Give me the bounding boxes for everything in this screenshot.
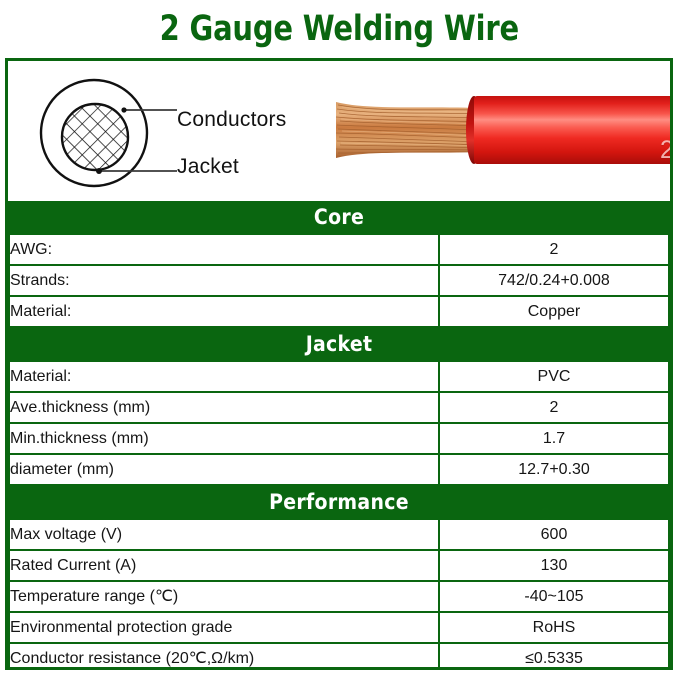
row-value: 742/0.24+0.008: [439, 265, 669, 296]
diagram-label-conductors: Conductors: [177, 108, 286, 132]
table-row: Min.thickness (mm) 1.7: [9, 423, 669, 454]
row-value: 2: [439, 392, 669, 423]
section-header-performance: Performance: [9, 485, 669, 519]
row-label: Temperature range (℃): [9, 581, 439, 612]
section-header-row: Core: [9, 201, 669, 234]
table-row: Rated Current (A) 130: [9, 550, 669, 581]
row-label: Min.thickness (mm): [9, 423, 439, 454]
illustration-band: Conductors Jacket: [8, 61, 670, 201]
row-label: Material:: [9, 296, 439, 327]
section-header-core: Core: [9, 201, 669, 234]
section-header-row: Performance: [9, 485, 669, 519]
copper-strands: [328, 88, 484, 172]
row-label: AWG:: [9, 234, 439, 265]
row-label: Environmental protection grade: [9, 612, 439, 643]
row-value: -40~105: [439, 581, 669, 612]
title-bar: 2 Gauge Welding Wire: [0, 0, 679, 58]
row-label: diameter (mm): [9, 454, 439, 485]
table-row: Environmental protection grade RoHS: [9, 612, 669, 643]
table-row: Material: Copper: [9, 296, 669, 327]
row-value: 1.7: [439, 423, 669, 454]
row-value: Copper: [439, 296, 669, 327]
wire-photo: 2 Gauge: [326, 75, 670, 185]
wire-print-text: 2 Gauge: [660, 136, 670, 165]
row-label: Strands:: [9, 265, 439, 296]
row-label: Ave.thickness (mm): [9, 392, 439, 423]
row-value: 12.7+0.30: [439, 454, 669, 485]
wire-jacket: 2 Gauge: [474, 96, 670, 164]
wire-cross-section-diagram: [20, 61, 180, 201]
row-value: ≤0.5335: [439, 643, 669, 670]
table-row: AWG: 2: [9, 234, 669, 265]
table-row: Ave.thickness (mm) 2: [9, 392, 669, 423]
table-row: Material: PVC: [9, 361, 669, 392]
section-header-row: Jacket: [9, 327, 669, 361]
row-value: RoHS: [439, 612, 669, 643]
diagram-label-jacket: Jacket: [177, 155, 239, 179]
table-row: Temperature range (℃) -40~105: [9, 581, 669, 612]
row-label: Conductor resistance (20℃,Ω/km): [9, 643, 439, 670]
spec-table-body: Core AWG: 2 Strands: 742/0.24+0.008 Mate…: [9, 201, 669, 670]
row-label: Rated Current (A): [9, 550, 439, 581]
row-value: 600: [439, 519, 669, 550]
spec-panel: Conductors Jacket: [5, 58, 673, 670]
table-row: Strands: 742/0.24+0.008: [9, 265, 669, 296]
row-value: 130: [439, 550, 669, 581]
table-row: diameter (mm) 12.7+0.30: [9, 454, 669, 485]
specifications-table: Core AWG: 2 Strands: 742/0.24+0.008 Mate…: [8, 201, 670, 670]
page-title: 2 Gauge Welding Wire: [160, 9, 519, 49]
table-row: Max voltage (V) 600: [9, 519, 669, 550]
section-header-jacket: Jacket: [9, 327, 669, 361]
table-row: Conductor resistance (20℃,Ω/km) ≤0.5335: [9, 643, 669, 670]
row-label: Max voltage (V): [9, 519, 439, 550]
row-value: 2: [439, 234, 669, 265]
row-label: Material:: [9, 361, 439, 392]
row-value: PVC: [439, 361, 669, 392]
